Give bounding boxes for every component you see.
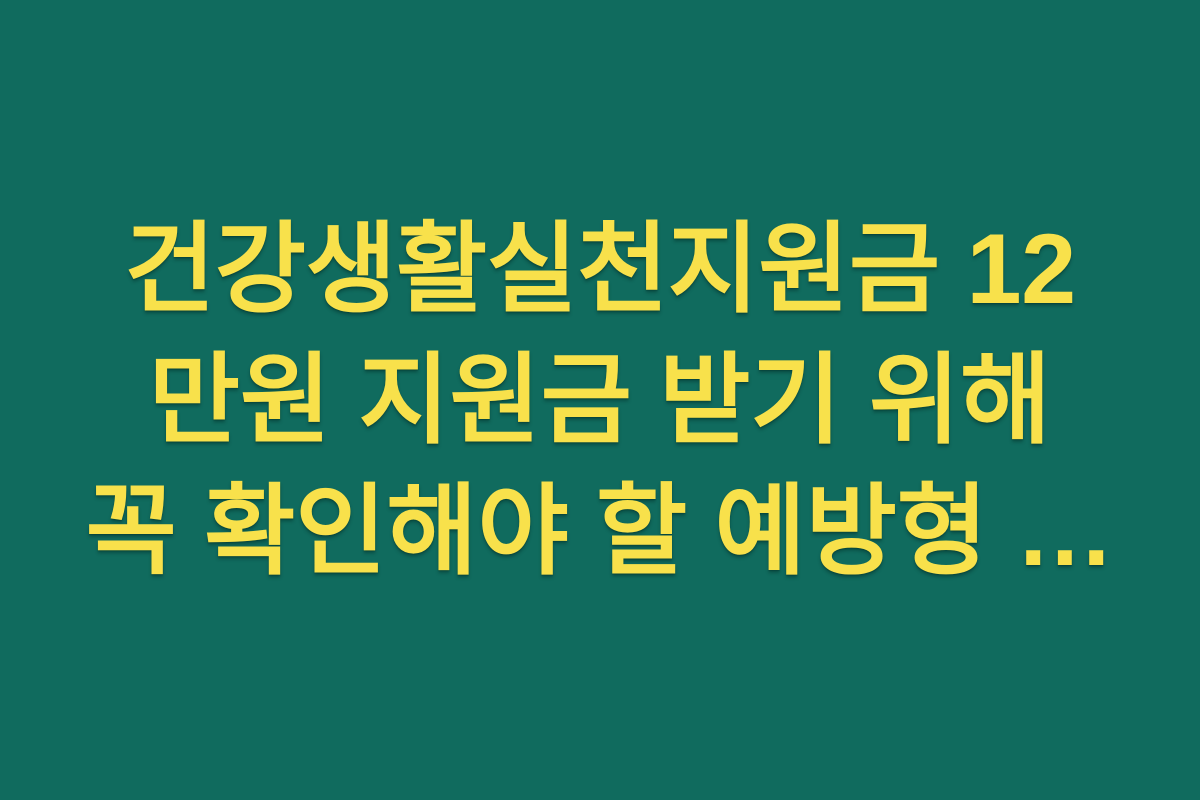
thumbnail-card: 건강생활실천지원금 12 만원 지원금 받기 위해 꼭 확인해야 할 예방형 …: [0, 0, 1200, 800]
headline-line-2: 만원 지원금 받기 위해: [149, 334, 1051, 465]
headline-line-3: 꼭 확인해야 할 예방형 …: [86, 465, 1115, 596]
headline-block: 건강생활실천지원금 12 만원 지원금 받기 위해 꼭 확인해야 할 예방형 …: [70, 203, 1130, 596]
headline-line-1: 건강생활실천지원금 12: [124, 203, 1075, 334]
